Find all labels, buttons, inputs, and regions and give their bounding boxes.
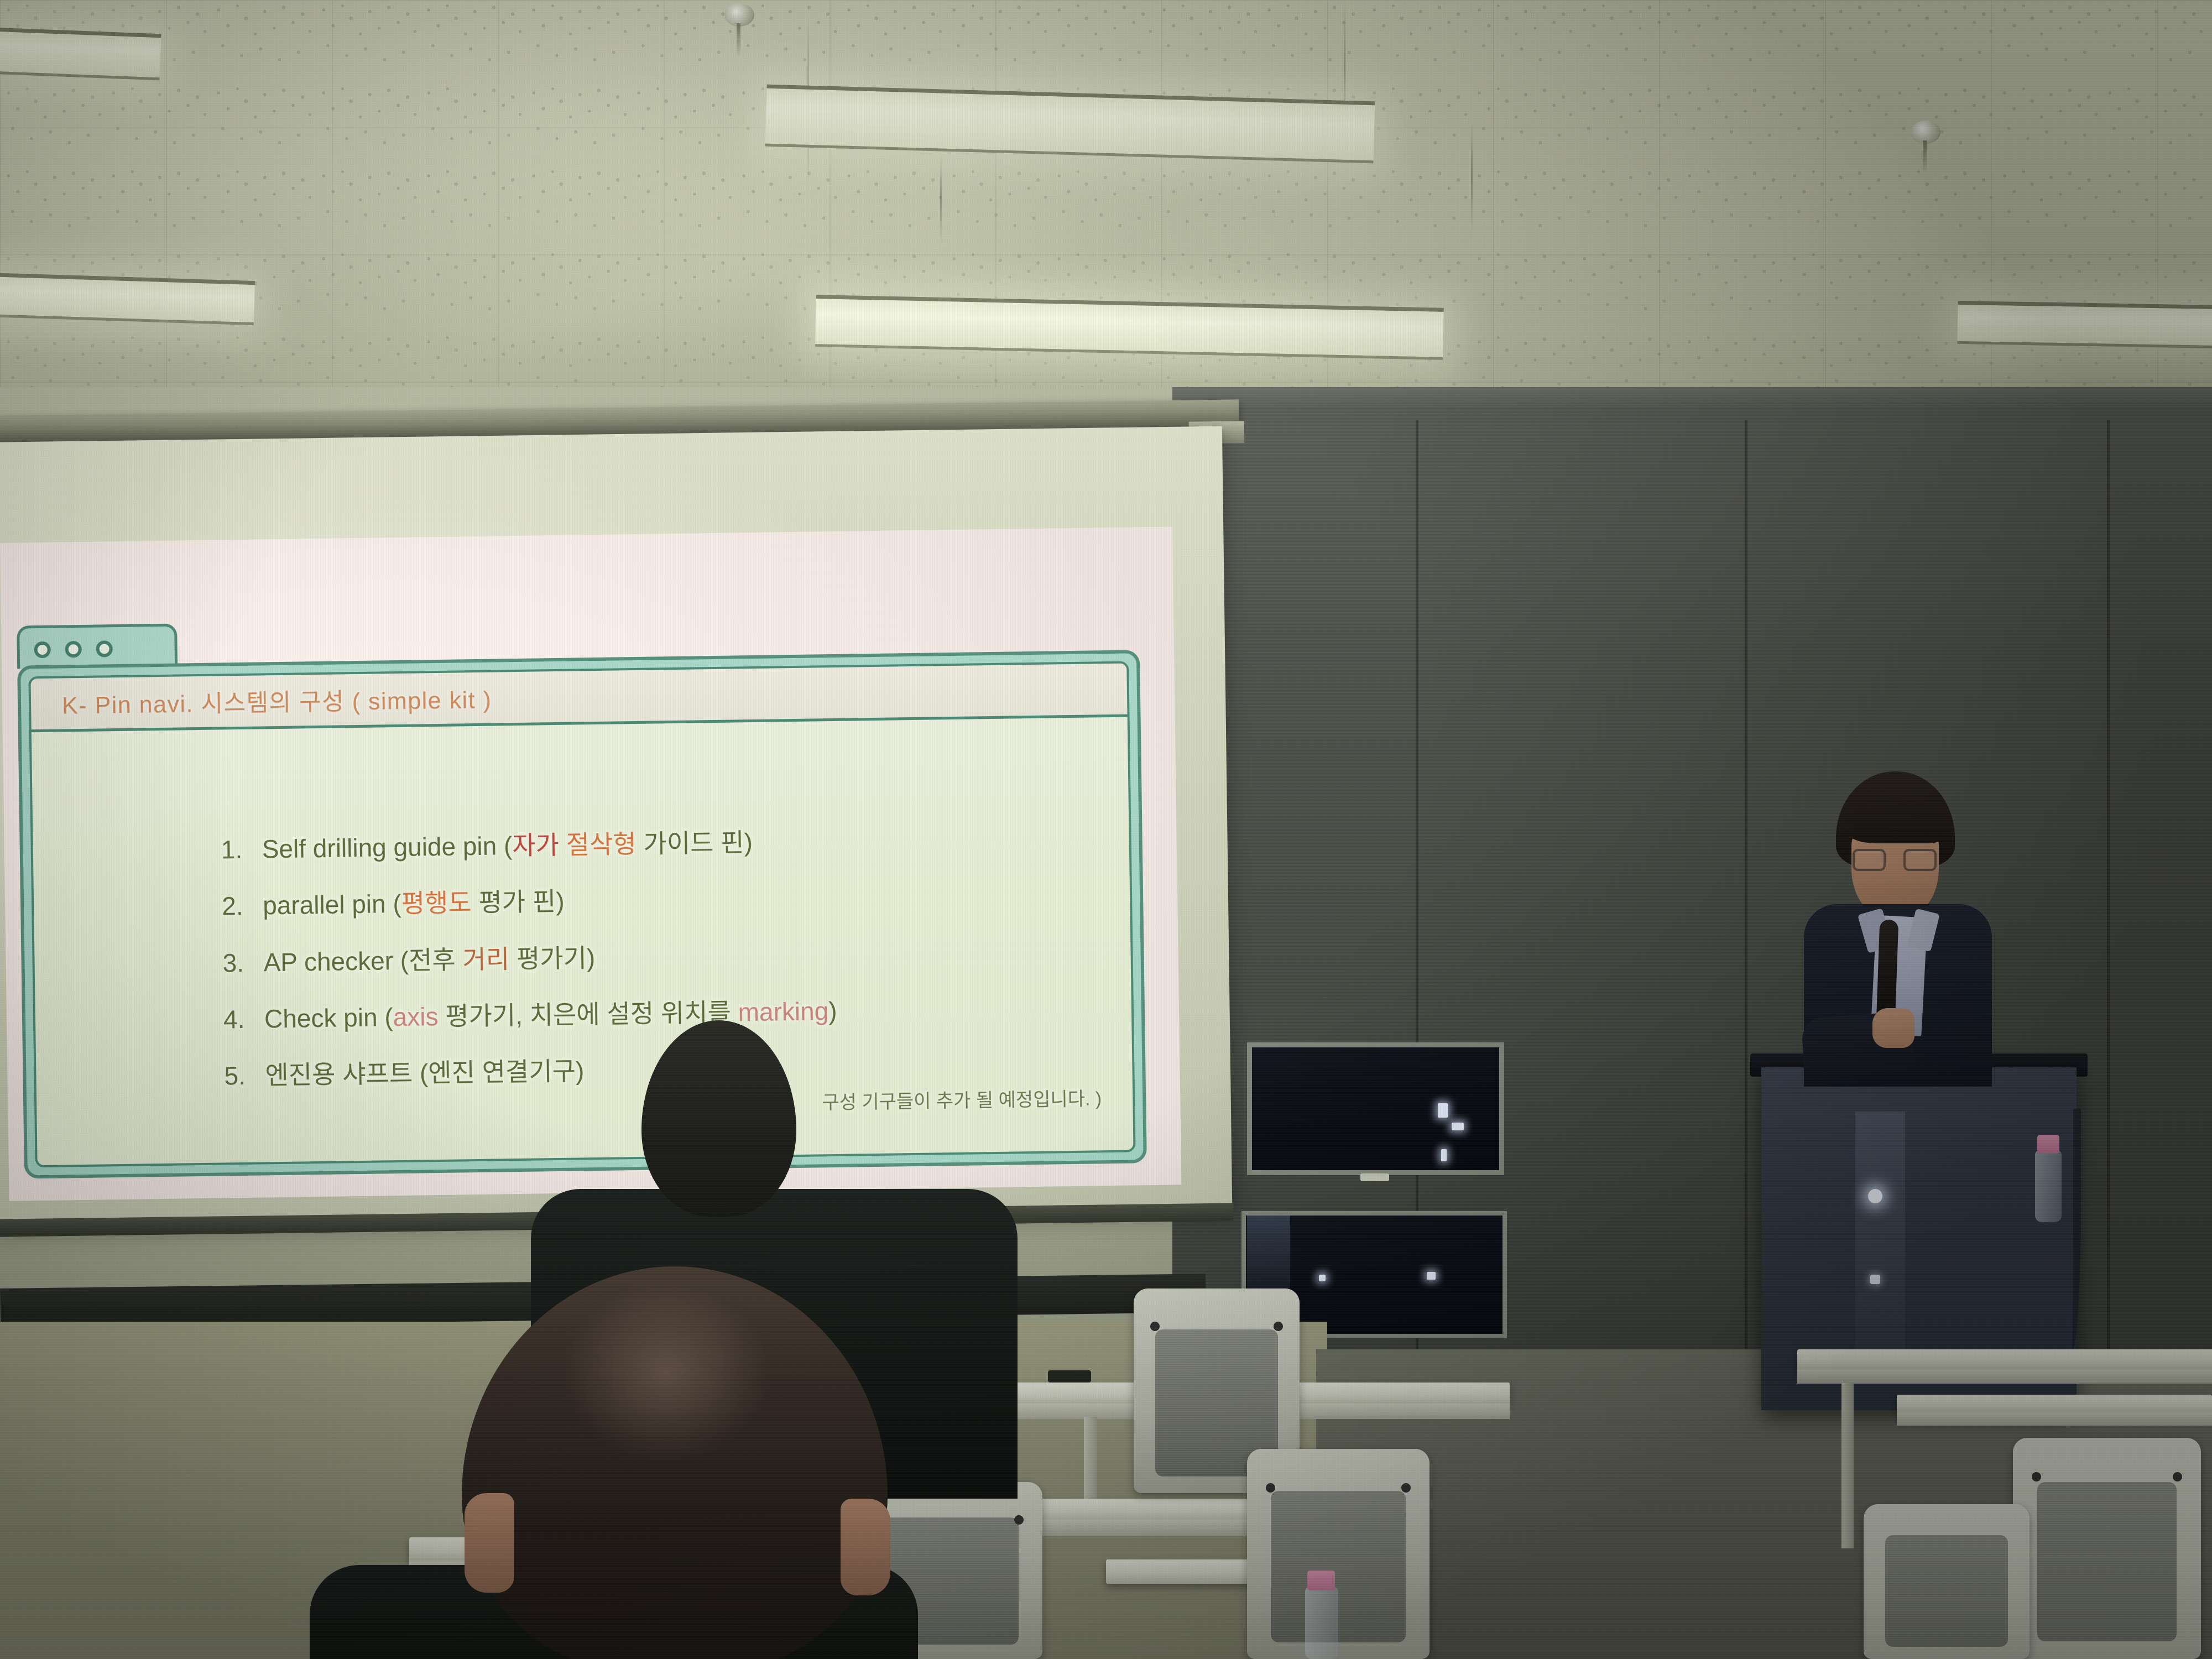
slide-footer-note: 구성 기구들이 추가 될 예정입니다. )	[822, 1083, 1102, 1114]
slide-list-item-4: 4.Check pin (axis 평가기, 치은에 설정 위치를 markin…	[223, 994, 1109, 1033]
water-bottle-audience	[1305, 1587, 1338, 1659]
slide-window-frame: K- Pin navi. 시스템의 구성 ( simple kit ) 1.Se…	[17, 610, 1147, 1178]
chair-5-bolt-left	[2032, 1472, 2041, 1481]
slide-window-tab	[17, 624, 178, 669]
slide-title-bar: K- Pin navi. 시스템의 구성 ( simple kit )	[30, 664, 1127, 733]
slide-list-item-5-text: 엔진용 샤프트 (엔진 연결기구)	[265, 1058, 584, 1089]
window-pane-upper	[1252, 1047, 1499, 1170]
wall-seam-2	[1745, 420, 1747, 1360]
slide-list-item-1-number: 1.	[221, 836, 262, 863]
slide-title: K- Pin navi. 시스템의 구성 ( simple kit )	[62, 681, 492, 721]
slide-list-item-4-number: 4.	[223, 1005, 265, 1032]
window-controls	[34, 640, 112, 658]
slide-list-item-2-number: 2.	[222, 893, 263, 920]
slide-window-body: K- Pin navi. 시스템의 구성 ( simple kit ) 1.Se…	[17, 650, 1147, 1178]
slide-list-item-1-text: Self drilling guide pin (자가 절삭형 가이드 핀)	[262, 829, 753, 863]
chair-5-mesh	[2037, 1482, 2177, 1641]
night-light-2	[1452, 1123, 1464, 1130]
chair-3-bolt-right	[1401, 1483, 1411, 1493]
presenter-hand-holding-mic	[1872, 1008, 1914, 1048]
chair-5-bolt-right	[2173, 1472, 2182, 1481]
presenter-glasses-icon	[1853, 849, 1937, 872]
desk-right-1-leg	[1841, 1383, 1854, 1548]
chair-6[interactable]	[1864, 1504, 2030, 1659]
desk-right-2-edge	[1897, 1412, 2212, 1426]
minimize-dot-icon[interactable]	[65, 641, 81, 658]
slide-list-item-5-number: 5.	[224, 1062, 265, 1089]
slide-list-item-1: 1.Self drilling guide pin (자가 절삭형 가이드 핀)	[221, 824, 1106, 863]
maximize-dot-icon[interactable]	[96, 640, 112, 657]
ceiling-light-1	[0, 27, 161, 81]
chair-6-mesh	[1885, 1535, 2008, 1647]
close-dot-icon[interactable]	[34, 641, 50, 658]
water-bottle-cap	[2037, 1135, 2059, 1154]
window-handle-upper[interactable]	[1360, 1173, 1389, 1181]
podium-indicator-light-secondary-icon	[1870, 1275, 1880, 1284]
slide-list-item-2-text: parallel pin (평행도 평가 핀)	[263, 888, 565, 919]
podium-control-panel[interactable]	[1855, 1112, 1905, 1349]
chair-3[interactable]	[1247, 1449, 1430, 1659]
ceiling-crack-3	[1471, 122, 1473, 232]
slide-list-item-2: 2.parallel pin (평행도 평가 핀)	[222, 880, 1107, 920]
slide-list-item-3-number: 3.	[222, 949, 264, 976]
wall-seam-3	[2107, 420, 2110, 1360]
chair-2-bolt-right	[1274, 1322, 1283, 1331]
projected-slide: K- Pin navi. 시스템의 구성 ( simple kit ) 1.Se…	[0, 526, 1181, 1201]
lecture-hall-photo: K- Pin navi. 시스템의 구성 ( simple kit ) 1.Se…	[0, 0, 2212, 1659]
night-light-1	[1438, 1103, 1448, 1118]
ceiling-light-5	[1957, 301, 2212, 348]
sprinkler-icon-2	[1911, 121, 1940, 144]
chair-5[interactable]	[2013, 1438, 2201, 1659]
night-light-5	[1427, 1272, 1436, 1280]
desk-right-2	[1897, 1395, 2212, 1413]
ceiling-tile-grid	[0, 0, 2212, 437]
audience-member-front-ear-right	[841, 1499, 890, 1595]
night-light-4	[1319, 1275, 1326, 1281]
audience-member-front-ear-left	[465, 1493, 514, 1593]
slide-list-item-4-text: Check pin (axis 평가기, 치은에 설정 위치를 marking)	[264, 998, 837, 1032]
chair-4-bolt-right	[1014, 1515, 1024, 1525]
podium-indicator-light-icon	[1868, 1189, 1882, 1203]
ceiling-crack-4	[940, 155, 942, 243]
desk-right-1-edge	[1797, 1369, 2212, 1384]
slide-content-area: K- Pin navi. 시스템의 구성 ( simple kit ) 1.Se…	[28, 661, 1135, 1168]
window-upper	[1247, 1042, 1504, 1175]
desk-right-1	[1797, 1349, 2212, 1370]
ceiling-light-3	[0, 272, 255, 325]
chair-2-bolt-left	[1150, 1322, 1160, 1331]
sprinkler-icon	[724, 3, 754, 27]
slide-list-item-3: 3.AP checker (전후 거리 평가기)	[222, 937, 1108, 977]
ceiling	[0, 0, 2212, 437]
slide-list-item-3-text: AP checker (전후 거리 평가기)	[263, 945, 595, 976]
night-light-3	[1441, 1149, 1447, 1161]
chair-3-bolt-left	[1266, 1483, 1275, 1493]
water-bottle-audience-cap	[1307, 1571, 1335, 1590]
desk-item-remote[interactable]	[1048, 1370, 1091, 1383]
water-bottle	[2035, 1150, 2062, 1222]
